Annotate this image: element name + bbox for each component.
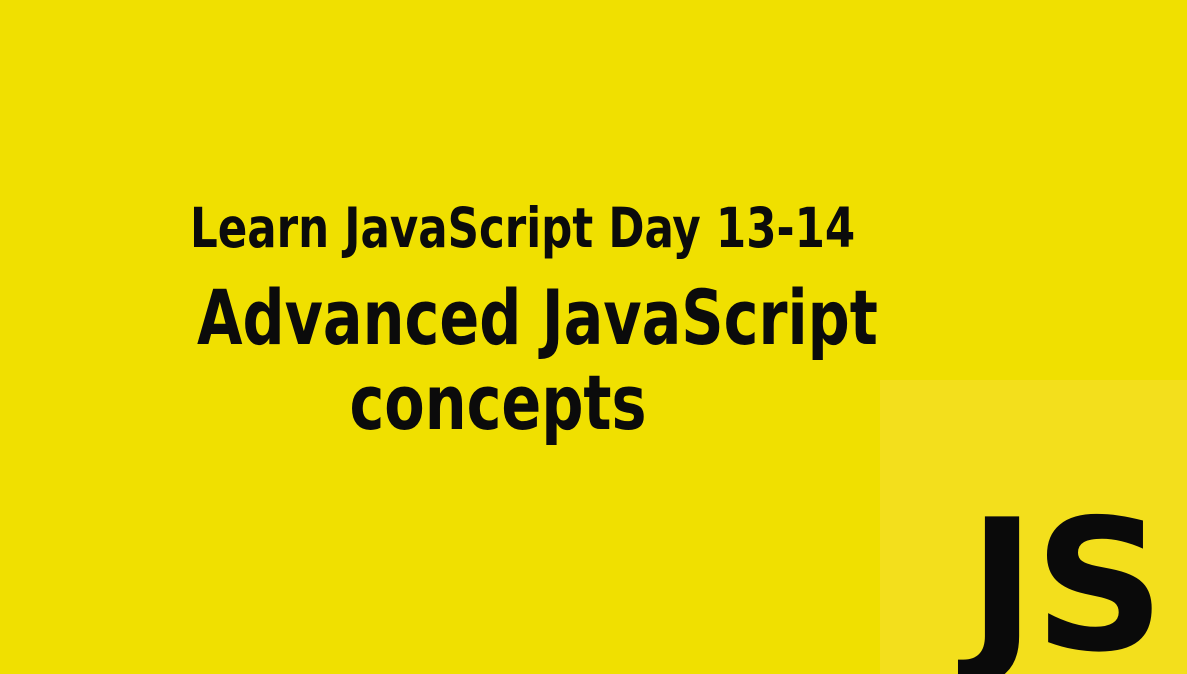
page-title: Advanced JavaScript concepts xyxy=(197,275,799,445)
slide-canvas: JS Learn JavaScript Day 13-14 Advanced J… xyxy=(0,0,1187,674)
page-title-line-1: Advanced JavaScript xyxy=(197,275,799,360)
page-title-line-2: concepts xyxy=(197,360,799,445)
javascript-logo: JS xyxy=(880,380,1187,674)
headline-kicker: Learn JavaScript Day 13-14 xyxy=(190,196,806,261)
headline-block: Learn JavaScript Day 13-14 Advanced Java… xyxy=(148,196,848,445)
javascript-logo-text: JS xyxy=(968,516,1163,658)
